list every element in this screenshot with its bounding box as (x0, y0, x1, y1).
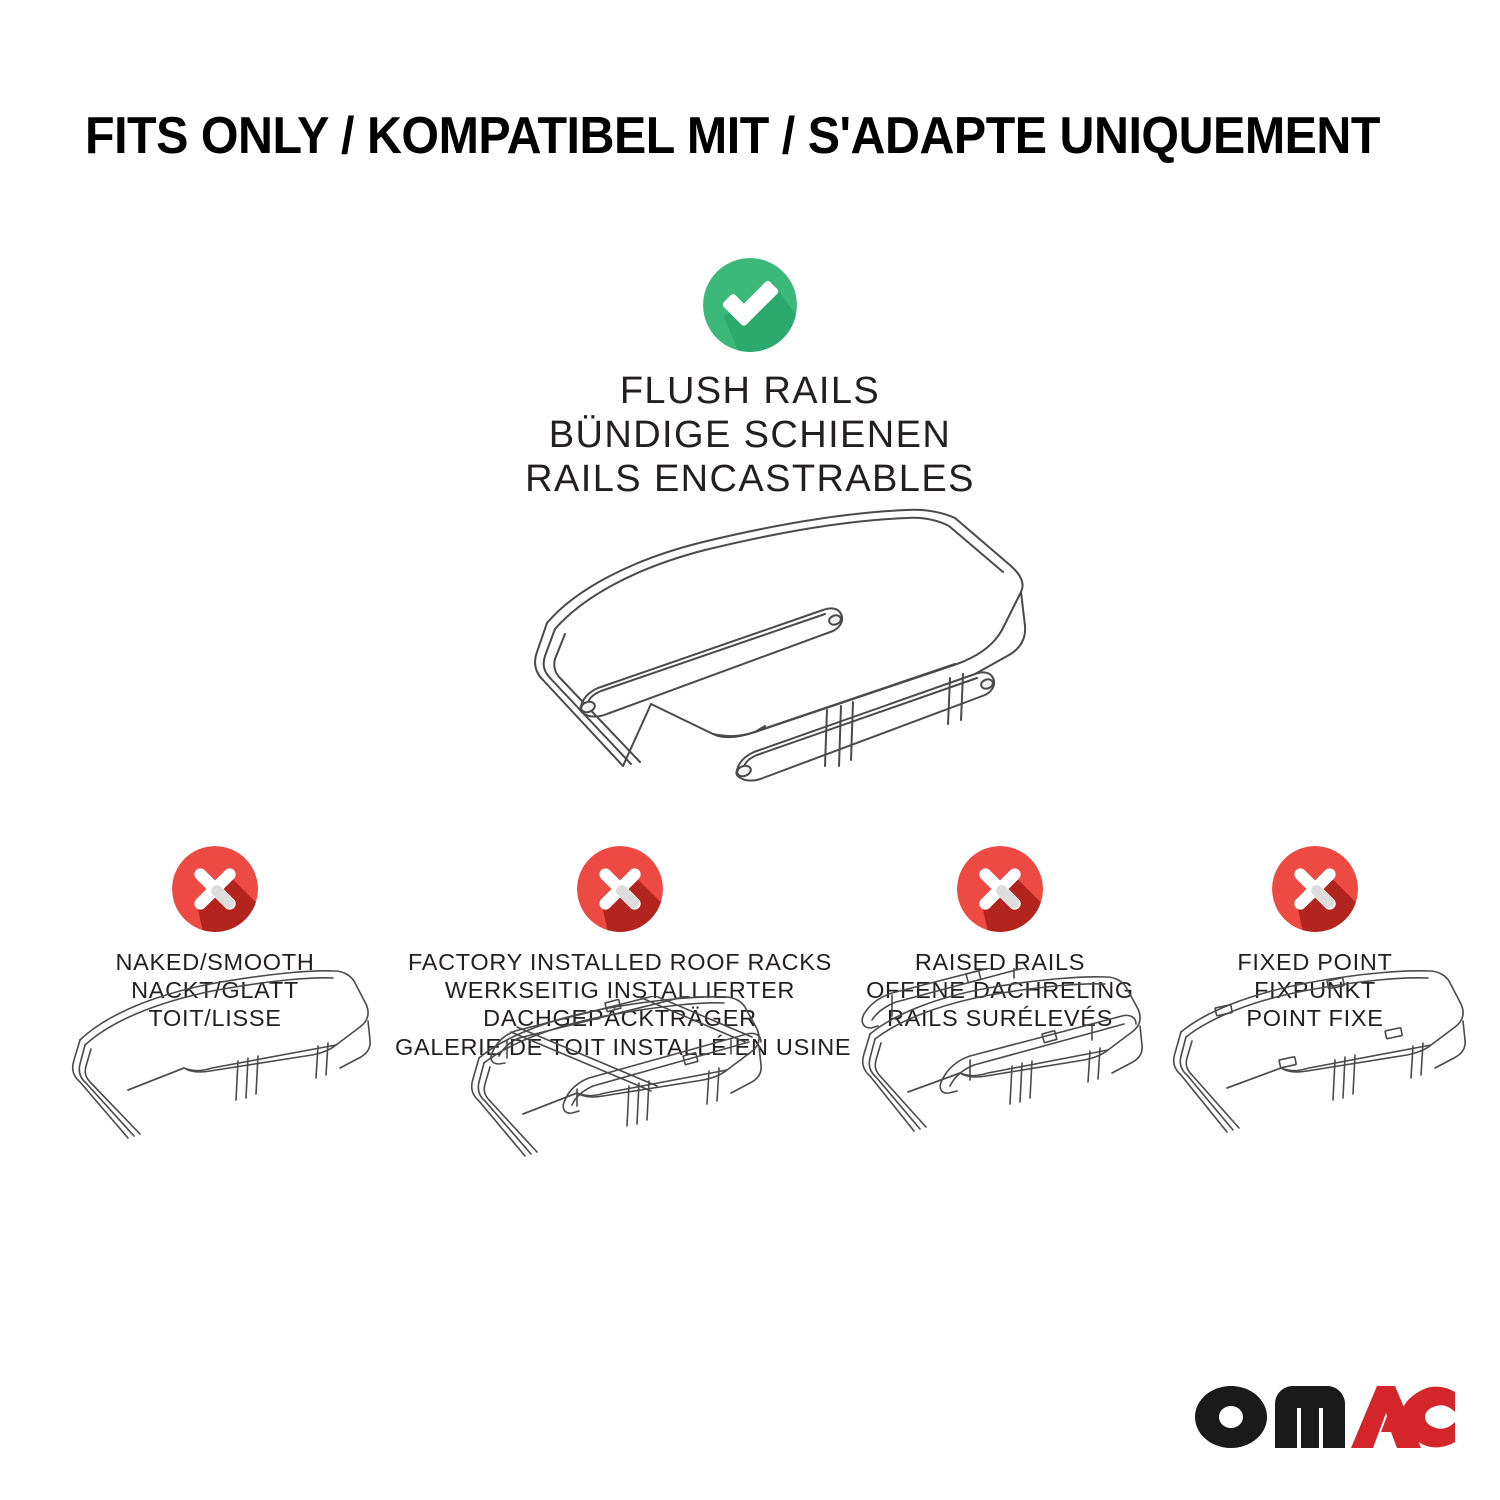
check-circle-icon (703, 258, 797, 352)
car-roof-flush-rails-illustration (455, 498, 1055, 798)
badge-wrap (1165, 846, 1465, 946)
x-circle-icon (577, 846, 663, 932)
reject-label-en: FACTORY INSTALLED ROOF RACKS (395, 948, 845, 976)
approved-label-en: FLUSH RAILS (0, 369, 1500, 413)
approved-section: FLUSH RAILS BÜNDIGE SCHIENEN RAILS ENCAS… (0, 258, 1500, 501)
approved-labels: FLUSH RAILS BÜNDIGE SCHIENEN RAILS ENCAS… (0, 369, 1500, 501)
x-circle-icon (1272, 846, 1358, 932)
badge-wrap (40, 846, 390, 946)
logo-letter-m (1275, 1386, 1345, 1448)
reject-item-factory-racks: FACTORY INSTALLED ROOF RACKS WERKSEITIG … (395, 846, 845, 1061)
approved-label-fr: RAILS ENCASTRABLES (0, 457, 1500, 501)
car-roof-fixed-point-illustration (1155, 968, 1475, 1173)
reject-item-fixed-point: FIXED POINT FIXPUNKT POINT FIXE (1165, 846, 1465, 1033)
car-roof-factory-racks-illustration (445, 996, 795, 1201)
logo-letter-o (1195, 1386, 1267, 1448)
x-circle-icon (957, 846, 1043, 932)
badge-wrap (830, 846, 1170, 946)
omac-logo (1195, 1386, 1455, 1448)
car-roof-naked-illustration (50, 968, 380, 1173)
x-circle-icon (172, 846, 258, 932)
reject-item-naked-smooth: NAKED/SMOOTH NACKT/GLATT TOIT/LISSE (40, 846, 390, 1033)
approved-label-de: BÜNDIGE SCHIENEN (0, 413, 1500, 457)
reject-item-raised-rails: RAISED RAILS OFFENE DACHRELING RAILS SUR… (830, 846, 1170, 1033)
rejected-section: NAKED/SMOOTH NACKT/GLATT TOIT/LISSE (0, 846, 1500, 1266)
badge-wrap (395, 846, 845, 946)
page-title: FITS ONLY / KOMPATIBEL MIT / S'ADAPTE UN… (85, 106, 1331, 166)
car-roof-raised-rails-illustration (830, 968, 1170, 1173)
